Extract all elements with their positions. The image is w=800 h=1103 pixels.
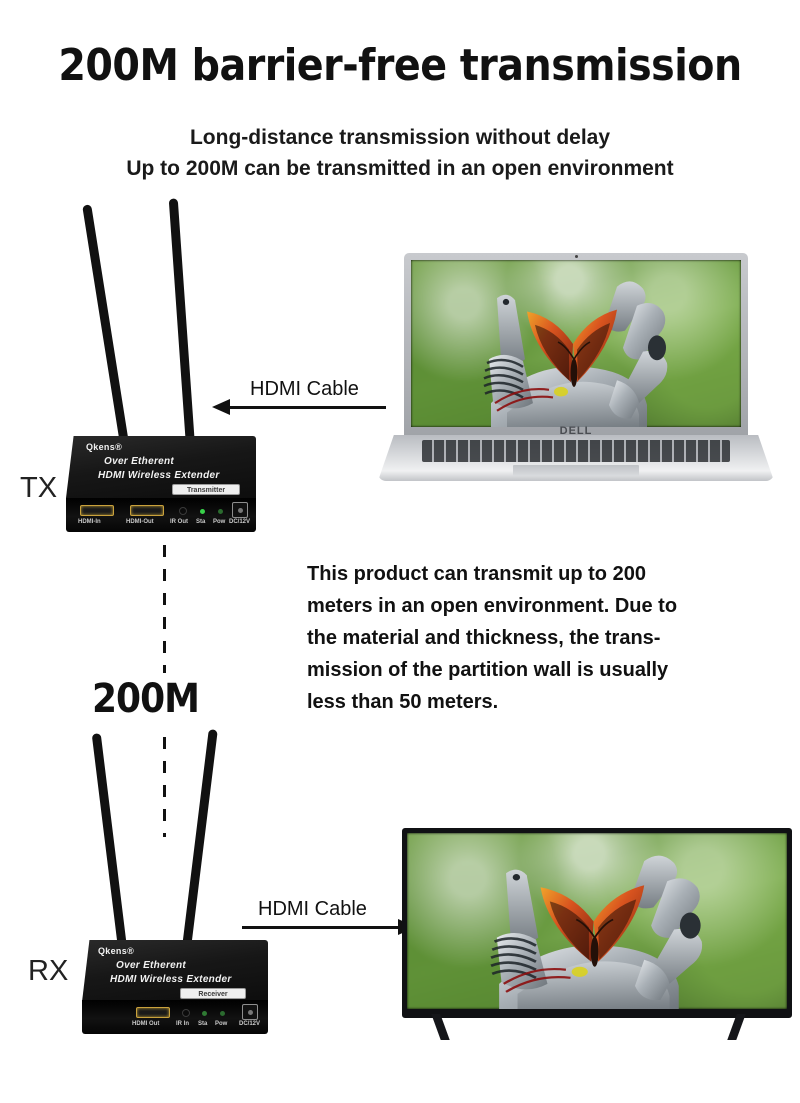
tv-screen bbox=[407, 833, 787, 1009]
led-sta-icon bbox=[200, 509, 205, 514]
transmitter-tagline: Over Etherent bbox=[104, 456, 174, 467]
port-label-sta: Sta bbox=[198, 1021, 207, 1027]
transmitter-product-name: HDMI Wireless Extender bbox=[98, 470, 220, 481]
port-label-dc: DC/12V bbox=[239, 1021, 260, 1027]
distance-label: 200M bbox=[92, 676, 199, 722]
laptop-base bbox=[378, 435, 774, 481]
port-label-ir-in: IR In bbox=[176, 1021, 189, 1027]
port-label-pow: Pow bbox=[213, 519, 225, 525]
port-label-ir-out: IR Out bbox=[170, 519, 188, 525]
laptop-device: DELL bbox=[378, 253, 774, 481]
description-paragraph: This product can transmit up to 200 mete… bbox=[307, 558, 727, 718]
receiver-front-panel: HDMI Out IR In Sta Pow DC/12V bbox=[82, 1000, 268, 1034]
receiver-tagline: Over Etherent bbox=[116, 960, 186, 971]
port-ir-out-icon[interactable] bbox=[179, 507, 187, 515]
tv-screen-artwork bbox=[407, 833, 787, 1009]
tv-robot-hand-butterfly-illustration bbox=[407, 833, 787, 1009]
subtitle-line-2: Up to 200M can be transmitted in an open… bbox=[0, 153, 800, 184]
transmitter-top-face: Qkens® Over Etherent HDMI Wireless Exten… bbox=[66, 436, 256, 498]
transmitter-antenna-left bbox=[82, 204, 129, 444]
receiver-device: Qkens® Over Etherent HDMI Wireless Exten… bbox=[66, 720, 266, 1040]
description-line-1: This product can transmit up to 200 bbox=[307, 558, 727, 590]
description-line-3: the material and thickness, the trans- bbox=[307, 622, 727, 654]
receiver-chassis: Qkens® Over Etherent HDMI Wireless Exten… bbox=[82, 940, 268, 1034]
screen-artwork bbox=[411, 260, 741, 427]
receiver-role-badge: Receiver bbox=[180, 988, 246, 999]
receiver-top-face: Qkens® Over Etherent HDMI Wireless Exten… bbox=[82, 940, 268, 1002]
port-label-hdmi-out: HDMI Out bbox=[132, 1021, 159, 1027]
television-device bbox=[402, 828, 792, 1043]
led-pow-icon bbox=[218, 509, 223, 514]
robot-hand-butterfly-illustration bbox=[411, 260, 741, 427]
subtitle-line-1: Long-distance transmission without delay bbox=[0, 122, 800, 153]
port-dc-12v-icon[interactable] bbox=[232, 502, 248, 518]
port-label-hdmi-in: HDMI-In bbox=[78, 519, 101, 525]
transmitter-role-badge: Transmitter bbox=[172, 484, 240, 495]
description-line-2: meters in an open environment. Due to bbox=[307, 590, 727, 622]
transmitter-chassis: Qkens® Over Etherent HDMI Wireless Exten… bbox=[66, 436, 256, 532]
port-dc-12v-icon[interactable] bbox=[242, 1004, 258, 1020]
receiver-label: RX bbox=[28, 955, 68, 988]
tv-bezel bbox=[402, 828, 792, 1018]
led-sta-icon bbox=[202, 1011, 207, 1016]
wireless-link-dashed-upper bbox=[163, 545, 166, 673]
description-line-5: less than 50 meters. bbox=[307, 686, 727, 718]
receiver-brand: Qkens® bbox=[98, 946, 134, 956]
receiver-antenna-right bbox=[182, 729, 218, 948]
page-title: 200M barrier-free transmission bbox=[0, 40, 800, 91]
subtitle-block: Long-distance transmission without delay… bbox=[0, 122, 800, 184]
laptop-lid bbox=[404, 253, 748, 441]
port-label-dc: DC/12V bbox=[229, 519, 250, 525]
port-label-sta: Sta bbox=[196, 519, 205, 525]
transmitter-label: TX bbox=[20, 472, 57, 505]
transmitter-antenna-right bbox=[169, 198, 195, 446]
port-ir-in-icon[interactable] bbox=[182, 1009, 190, 1017]
laptop-trackpad[interactable] bbox=[513, 465, 640, 476]
receiver-product-name: HDMI Wireless Extender bbox=[110, 974, 232, 985]
port-label-hdmi-out: HDMI-Out bbox=[126, 519, 154, 525]
led-pow-icon bbox=[220, 1011, 225, 1016]
transmitter-front-panel: HDMI-In HDMI-Out IR Out Sta Pow DC/12V bbox=[66, 498, 256, 532]
port-hdmi-out-icon[interactable] bbox=[130, 505, 164, 516]
receiver-antenna-left bbox=[92, 733, 127, 948]
port-hdmi-out-icon[interactable] bbox=[136, 1007, 170, 1018]
laptop-keyboard[interactable] bbox=[422, 440, 731, 462]
transmitter-device: Qkens® Over Etherent HDMI Wireless Exten… bbox=[58, 196, 258, 536]
transmitter-brand: Qkens® bbox=[86, 442, 122, 452]
webcam-icon bbox=[575, 255, 578, 258]
description-line-4: mission of the partition wall is usually bbox=[307, 654, 727, 686]
laptop-screen bbox=[411, 260, 741, 427]
port-label-pow: Pow bbox=[215, 1021, 227, 1027]
port-hdmi-in-icon[interactable] bbox=[80, 505, 114, 516]
